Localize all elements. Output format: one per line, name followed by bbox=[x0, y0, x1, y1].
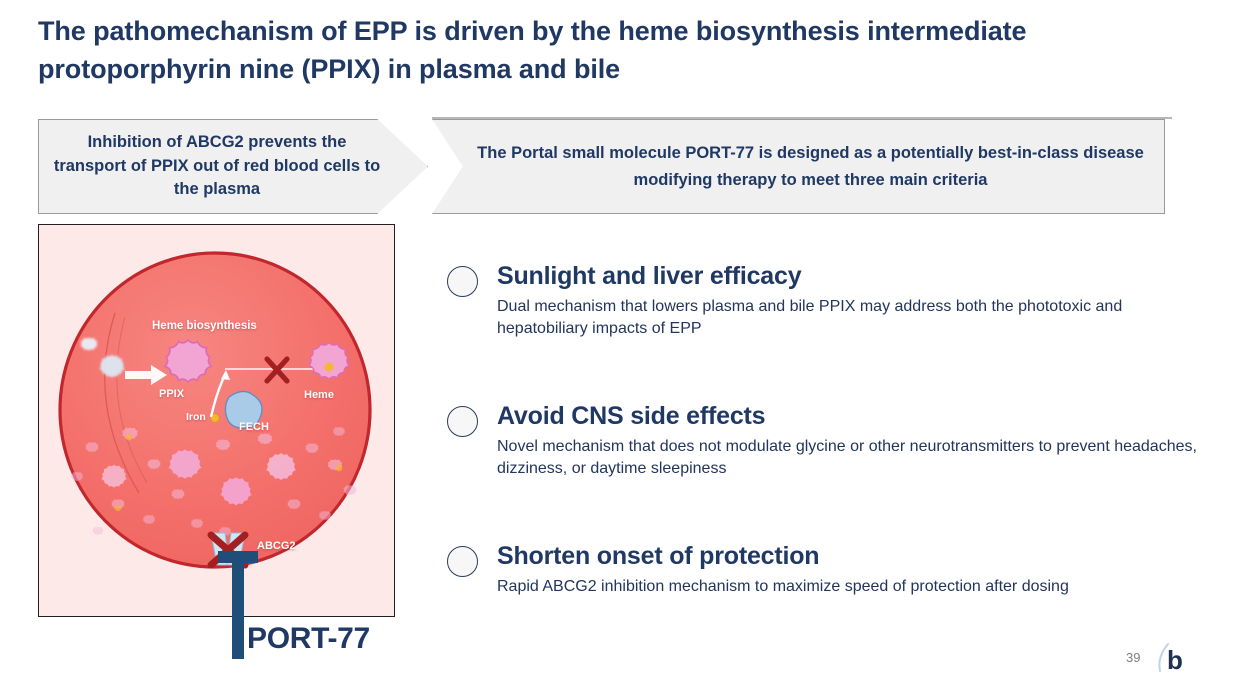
banner-left-text: Inhibition of ABCG2 prevents the transpo… bbox=[38, 119, 428, 214]
benefit-item-sunlight-and-liver-efficacy: Sunlight and liver efficacy Dual mechani… bbox=[447, 262, 1207, 341]
benefit-item-avoid-cns-side-effects: Avoid CNS side effects Novel mechanism t… bbox=[447, 402, 1207, 481]
page-title: The pathomechanism of EPP is driven by t… bbox=[38, 12, 1178, 89]
banner-chevron-left: Inhibition of ABCG2 prevents the transpo… bbox=[38, 119, 428, 214]
port-77-label: PORT-77 bbox=[247, 622, 370, 656]
page-number: 39 bbox=[1126, 650, 1140, 665]
banner-chevron-right: The Portal small molecule PORT-77 is des… bbox=[432, 119, 1165, 214]
benefit-heading: Sunlight and liver efficacy bbox=[497, 262, 1207, 291]
benefit-body: Novel mechanism that does not modulate g… bbox=[497, 436, 1207, 481]
benefit-body: Dual mechanism that lowers plasma and bi… bbox=[497, 296, 1207, 341]
benefit-item-shorten-onset-of-protection: Shorten onset of protection Rapid ABCG2 … bbox=[447, 542, 1207, 598]
svg-text:b: b bbox=[1167, 645, 1183, 675]
bullet-circle-icon bbox=[447, 406, 478, 437]
slide-canvas: The pathomechanism of EPP is driven by t… bbox=[0, 0, 1235, 691]
bullet-circle-icon bbox=[447, 546, 478, 577]
benefit-heading: Avoid CNS side effects bbox=[497, 402, 1207, 431]
brand-logo-icon: b bbox=[1154, 641, 1190, 675]
benefit-heading: Shorten onset of protection bbox=[497, 542, 1207, 571]
bullet-circle-icon bbox=[447, 266, 478, 297]
benefit-body: Rapid ABCG2 inhibition mechanism to maxi… bbox=[497, 576, 1207, 599]
banner-right-text: The Portal small molecule PORT-77 is des… bbox=[432, 119, 1165, 214]
